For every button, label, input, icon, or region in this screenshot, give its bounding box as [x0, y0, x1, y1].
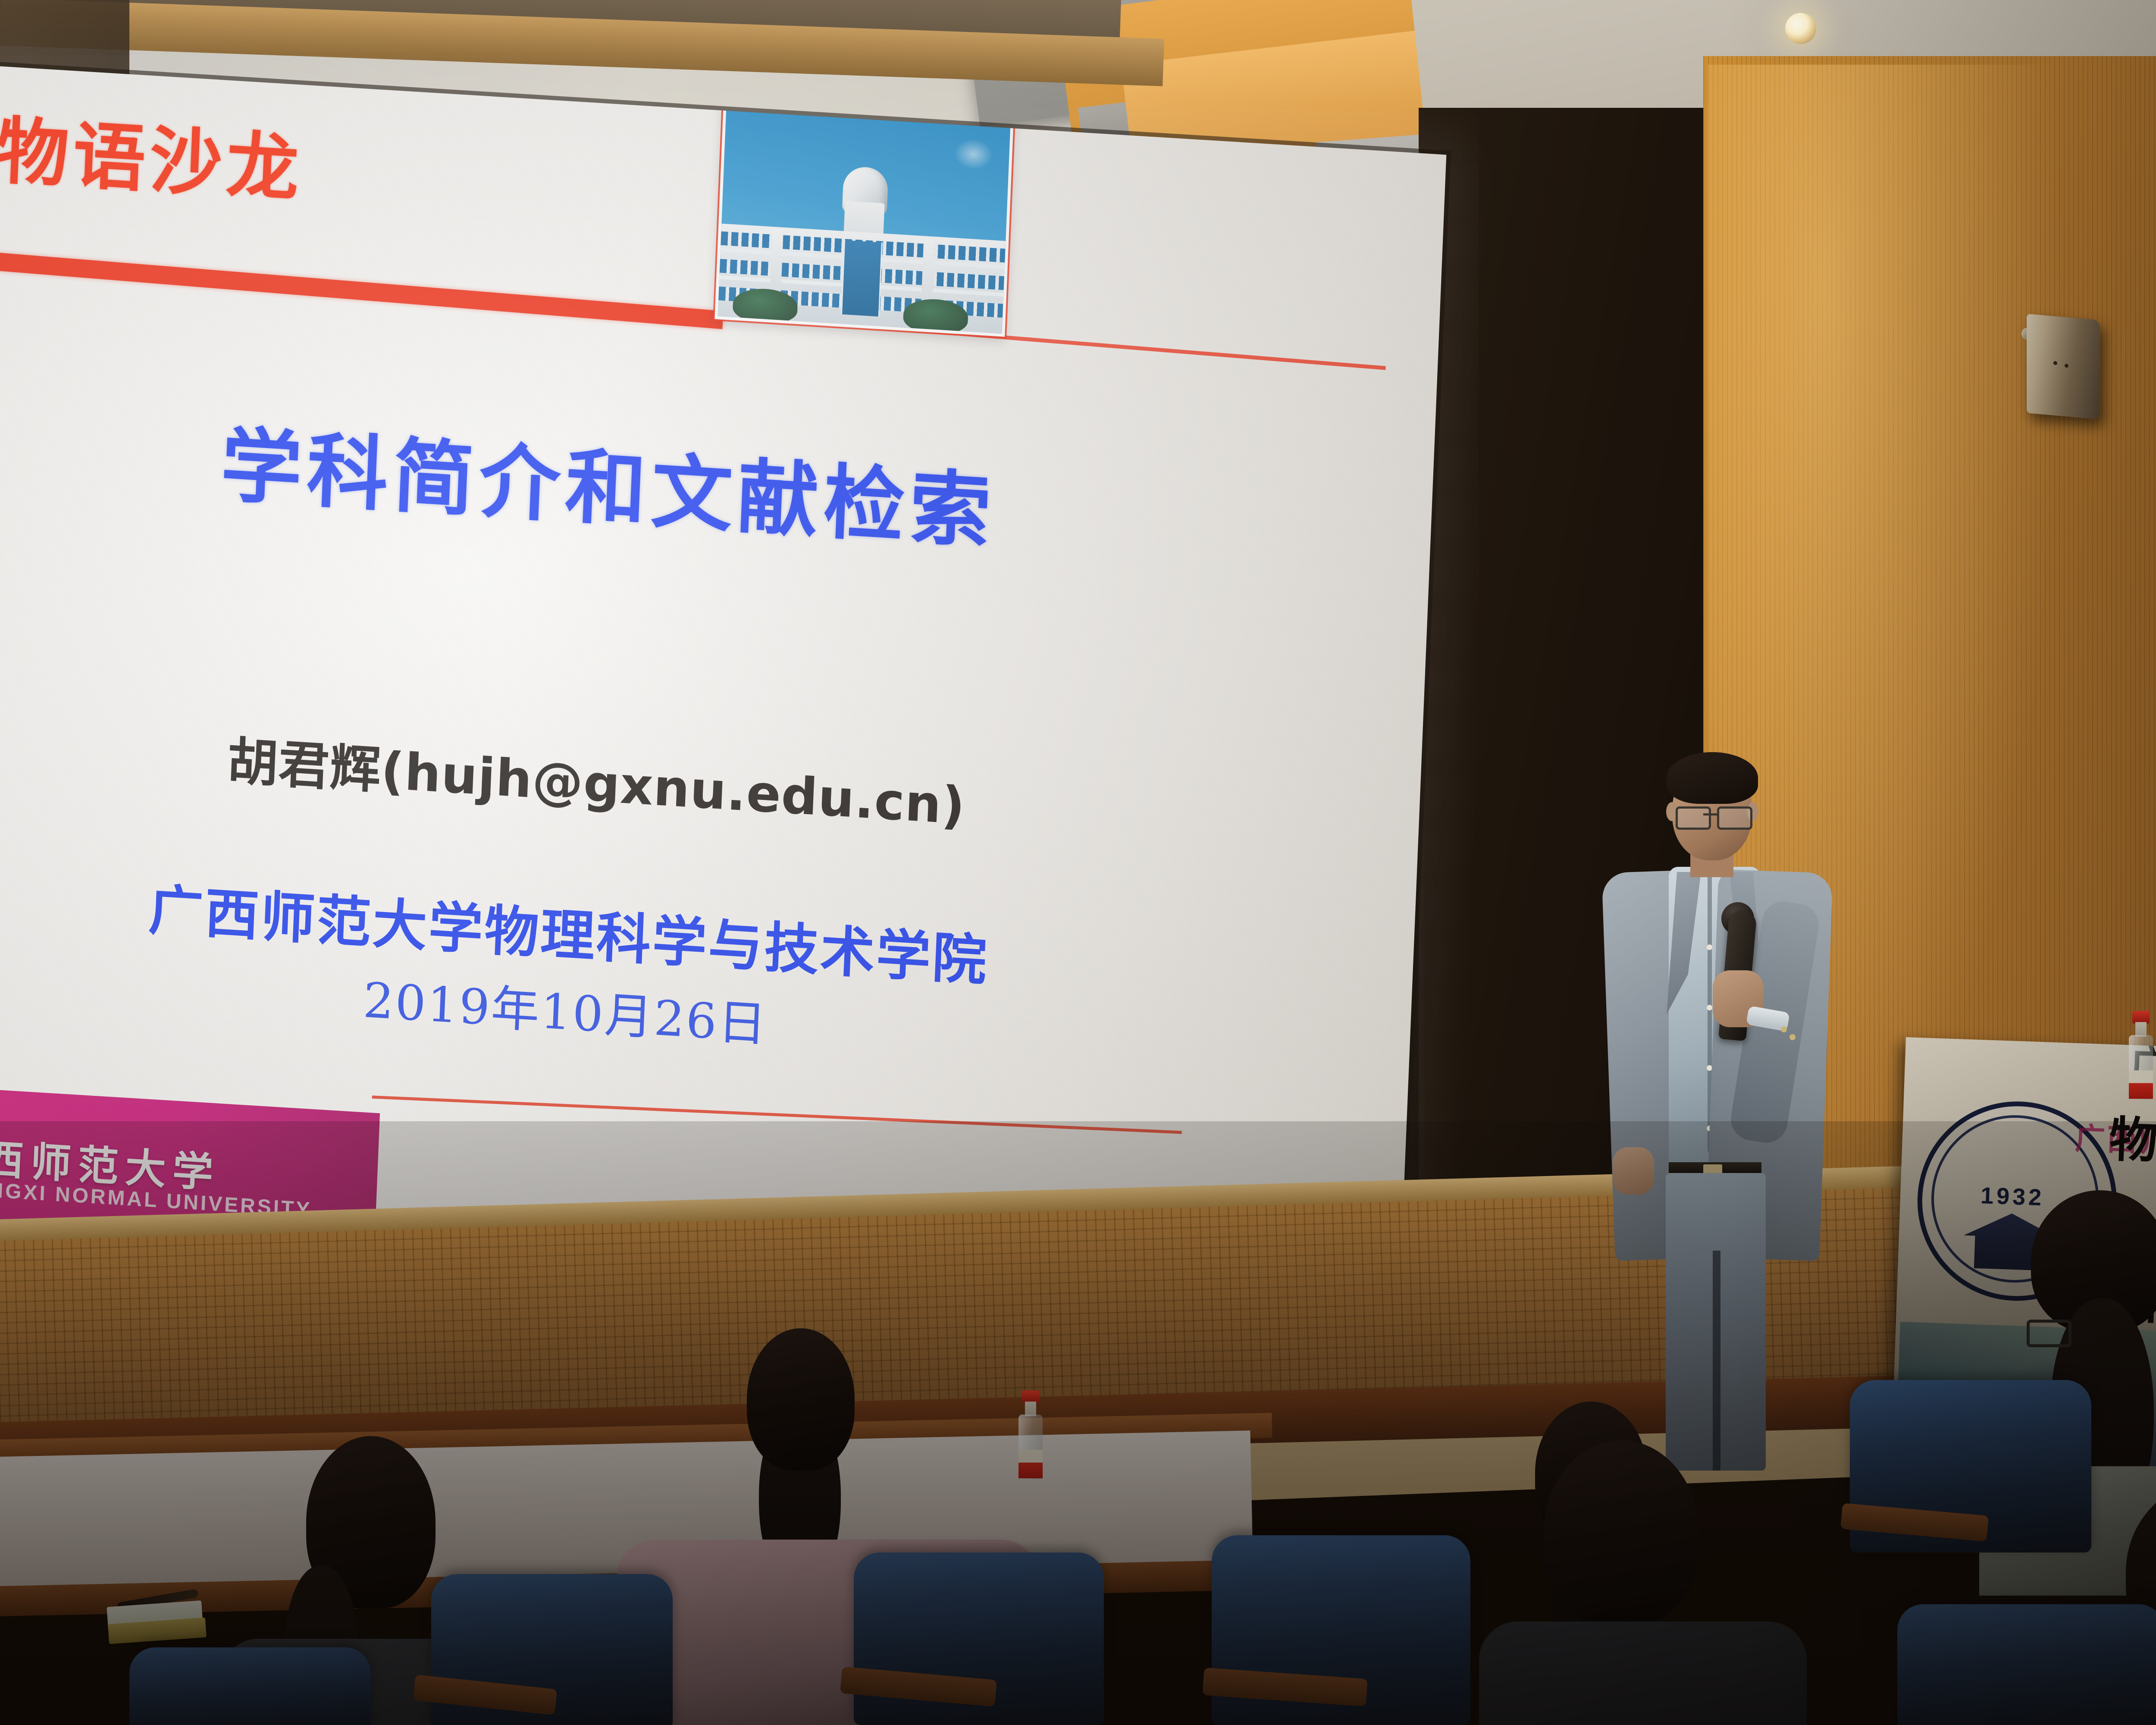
presenter: [1561, 742, 1863, 1475]
slide-rule-thick: [0, 249, 724, 329]
audience-person: [1496, 1440, 1772, 1725]
wall-speaker-icon: [2027, 314, 2100, 420]
presenter-left-hand: [1613, 1147, 1654, 1195]
water-bottle: [2126, 1022, 2156, 1108]
auditorium-seat[interactable]: [1897, 1604, 2156, 1725]
slide-presenter-email: 胡君辉(hujh@gxnu.edu.cn): [44, 709, 1149, 850]
slide-building-photo: [714, 102, 1014, 337]
slide-surface: 物语沙龙: [0, 65, 1446, 1344]
auditorium-seat[interactable]: [1850, 1380, 2091, 1552]
glasses-icon: [1676, 806, 1711, 830]
slide-header-label: 物语沙龙: [0, 92, 602, 234]
slide-bottom-rule: [372, 1095, 1182, 1134]
auditorium-seat[interactable]: [1212, 1535, 1470, 1725]
glasses-bridge: [1703, 813, 1718, 815]
presenter-leg-gap: [1713, 1251, 1720, 1471]
auditorium-seat[interactable]: [129, 1647, 371, 1725]
slide-title: 学科简介和文献检索: [55, 389, 1162, 574]
lecture-hall-photo: ▪ ▪ ▪ ▪ ▪ ▪ ▪ ▪▪ 物语沙龙: [0, 0, 2156, 1725]
notebook-on-ledge: [106, 1592, 213, 1651]
photo-building-body: [718, 223, 1006, 333]
presenter-hair: [1667, 752, 1758, 804]
glasses-icon: [1717, 806, 1752, 830]
auditorium-seat[interactable]: [431, 1574, 673, 1725]
ceiling-downlight-icon: [1785, 13, 1816, 44]
glasses-icon: [2027, 1320, 2071, 1347]
auditorium-seat[interactable]: [854, 1552, 1104, 1725]
projection-screen: 物语沙龙: [0, 65, 1446, 1344]
